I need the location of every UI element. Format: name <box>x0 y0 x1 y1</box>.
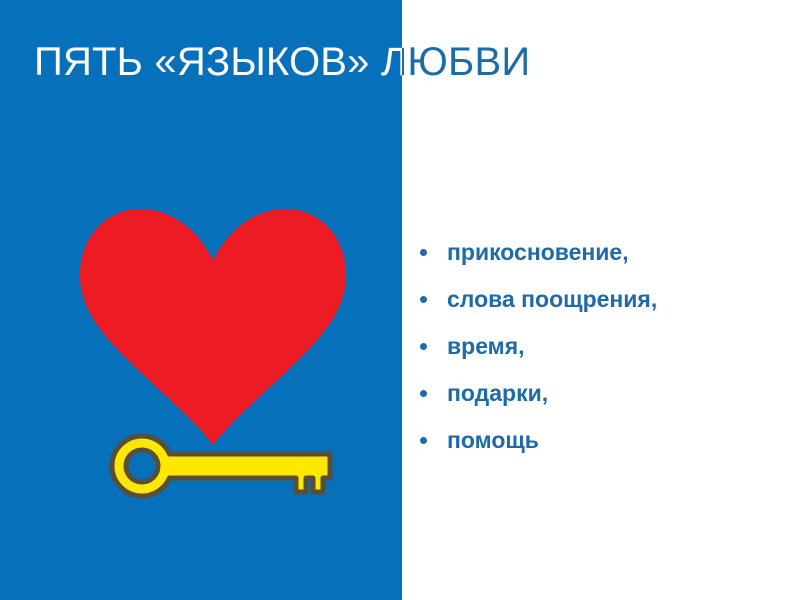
list-item-label: подарки, <box>447 380 548 406</box>
bullet-dot-icon <box>420 296 427 303</box>
slide-canvas: ПЯТЬ «ЯЗЫКОВ» ЛЮБВИ ПЯТЬ «ЯЗЫКОВ» ЛЮБВИ … <box>0 0 800 600</box>
bullet-dot-icon <box>420 249 427 256</box>
list-item-label: прикосновение, <box>447 239 629 265</box>
bullet-dot-icon <box>420 343 427 350</box>
list-item: помощь <box>416 420 776 467</box>
list-item-label: помощь <box>447 427 539 453</box>
bullet-dot-icon <box>420 437 427 444</box>
list-item: время, <box>416 326 776 373</box>
bullet-dot-icon <box>420 390 427 397</box>
love-languages-list: прикосновение, слова поощрения, время, п… <box>416 232 776 467</box>
list-item: прикосновение, <box>416 232 776 279</box>
list-item: подарки, <box>416 373 776 420</box>
key-icon <box>98 428 338 504</box>
heart-icon <box>78 200 348 445</box>
list-item-label: слова поощрения, <box>447 286 657 312</box>
list-item: слова поощрения, <box>416 279 776 326</box>
list-item-label: время, <box>447 333 525 359</box>
